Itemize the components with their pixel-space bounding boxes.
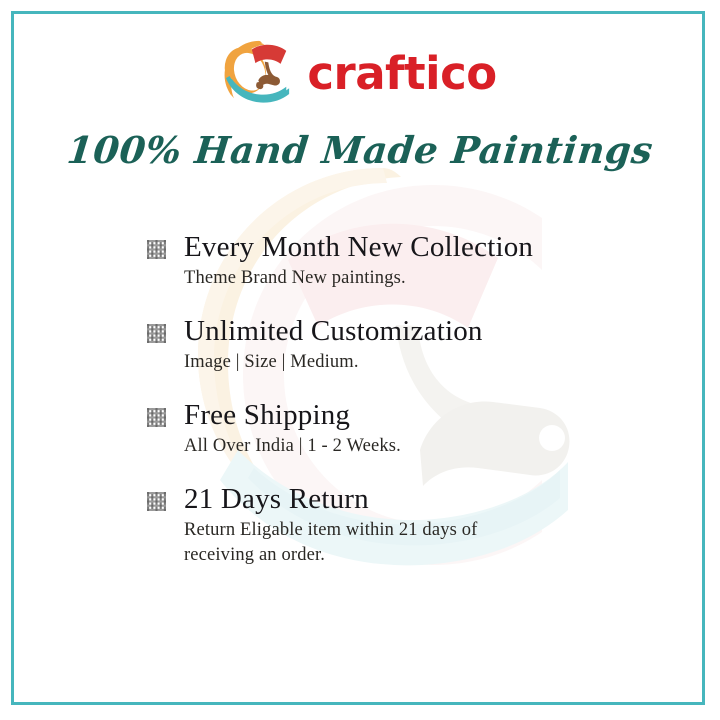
list-item: Unlimited Customization Image | Size | M… [146,316,616,374]
list-item-text: Unlimited Customization Image | Size | M… [184,316,616,374]
brand-wordmark: craftico [307,51,496,96]
list-item-subtitle: All Over India | 1 - 2 Weeks. [184,434,539,458]
brand-logo: craftico [0,33,720,109]
list-item: 21 Days Return Return Eligable item with… [146,484,616,567]
page-title: 100% Hand Made Paintings [0,128,720,172]
list-item-text: 21 Days Return Return Eligable item with… [184,484,616,567]
list-item-title: Unlimited Customization [184,316,616,347]
list-item-title: 21 Days Return [184,484,616,515]
woven-square-bullet-icon [146,491,167,512]
woven-square-bullet-icon [146,407,167,428]
list-item: Free Shipping All Over India | 1 - 2 Wee… [146,400,616,458]
woven-square-bullet-icon [146,323,167,344]
list-item-subtitle: Return Eligable item within 21 days of r… [184,518,539,567]
promo-banner: craftico 100% Hand Made Paintings [0,0,720,720]
list-item: Every Month New Collection Theme Brand N… [146,232,616,290]
list-item-subtitle: Image | Size | Medium. [184,350,539,374]
list-item-text: Free Shipping All Over India | 1 - 2 Wee… [184,400,616,458]
list-item-text: Every Month New Collection Theme Brand N… [184,232,616,290]
woven-square-bullet-icon [146,239,167,260]
list-item-title: Every Month New Collection [184,232,616,263]
feature-list: Every Month New Collection Theme Brand N… [146,232,616,567]
list-item-title: Free Shipping [184,400,616,431]
list-item-subtitle: Theme Brand New paintings. [184,266,539,290]
craftico-c-paintbrush-logo-icon [223,38,295,104]
